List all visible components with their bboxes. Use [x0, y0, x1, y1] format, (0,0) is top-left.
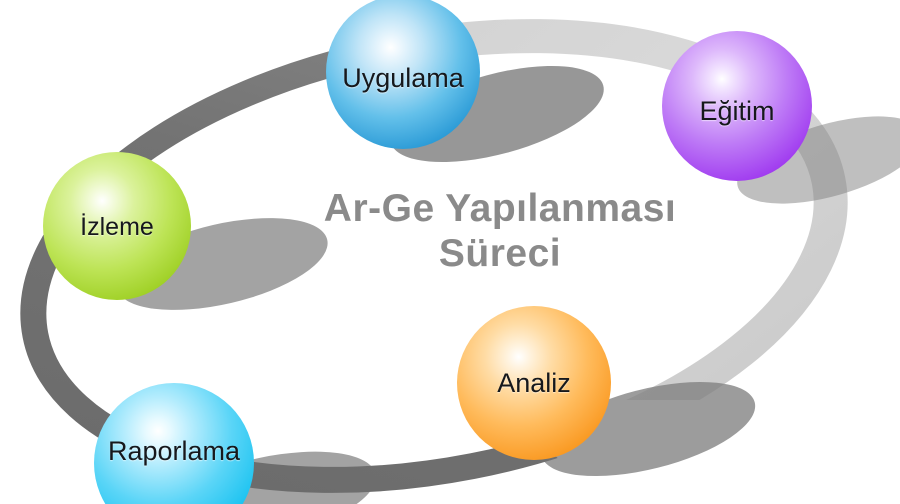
node-egitim-label: Eğitim — [662, 96, 812, 127]
page-title: Ar-Ge Yapılanması Süreci — [250, 186, 750, 276]
node-uygulama-label: Uygulama — [326, 63, 480, 94]
node-analiz-label: Analiz — [457, 368, 611, 399]
page-title-line-2: Süreci — [250, 231, 750, 276]
node-izleme[interactable]: İzleme — [43, 152, 191, 300]
page-title-line-1: Ar-Ge Yapılanması — [250, 186, 750, 231]
diagram-canvas: Ar-Ge Yapılanması Süreci UygulamaEğitimİ… — [0, 0, 900, 504]
node-egitim[interactable]: Eğitim — [662, 31, 812, 181]
node-analiz[interactable]: Analiz — [457, 306, 611, 460]
node-uygulama[interactable]: Uygulama — [326, 0, 480, 149]
node-raporlama-label: Raporlama — [94, 436, 254, 467]
node-izleme-label: İzleme — [43, 213, 191, 242]
